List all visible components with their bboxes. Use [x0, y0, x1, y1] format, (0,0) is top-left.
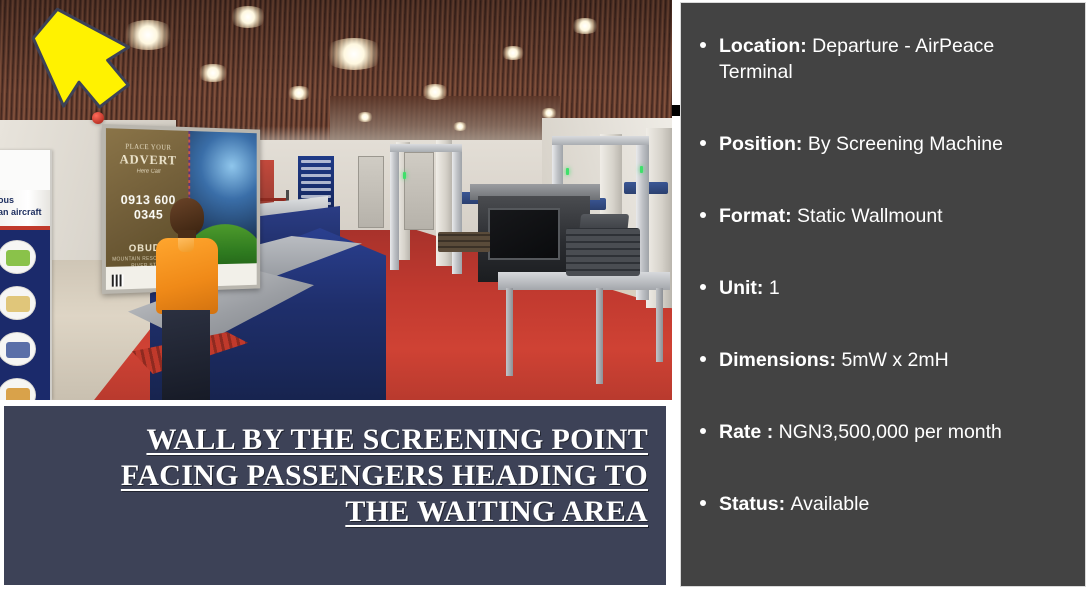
ceiling-light	[286, 86, 312, 100]
caption-line-1: WALL BY THE SCREENING POINT	[146, 423, 648, 456]
person-trousers	[162, 310, 210, 400]
spec-separator: :	[785, 205, 797, 227]
banner-top	[0, 150, 50, 190]
advert-line-3: Here Call	[106, 168, 190, 175]
ceiling-light	[420, 84, 450, 100]
table-leg	[596, 288, 603, 384]
ceiling-light	[570, 18, 600, 34]
detector-status-led	[566, 168, 569, 175]
spec-key: Rate	[719, 421, 767, 443]
person-orange-shirt	[156, 238, 218, 314]
elevator-door	[404, 152, 434, 230]
spec-key: Location	[719, 35, 800, 57]
banner-item-icon	[0, 240, 36, 274]
spec-value: 1	[769, 277, 780, 299]
spec-value: Static Wallmount	[797, 205, 943, 227]
xray-tunnel-opening	[488, 208, 560, 260]
arrow-icon	[22, 4, 130, 116]
photo-scene: ous an aircraft PLACE YOUR ADVERT	[0, 0, 672, 400]
caption-line-3: THE WAITING AREA	[345, 495, 648, 528]
spec-key: Unit:	[719, 277, 763, 299]
advertising-media-slide: ous an aircraft PLACE YOUR ADVERT	[0, 0, 1088, 589]
spec-value: By Screening Machine	[808, 133, 1003, 155]
banner-item-icon	[0, 332, 36, 366]
advert-line-2: ADVERT	[106, 151, 190, 168]
spec-item: Dimensions: 5mW x 2mH	[691, 347, 1069, 373]
spec-separator: :	[830, 349, 842, 371]
spec-key: Position	[719, 133, 796, 155]
spec-separator: :	[800, 35, 812, 57]
hall-door	[358, 156, 384, 228]
caption-line-2: FACING PASSENGERS HEADING TO	[121, 459, 648, 492]
table-leg	[656, 288, 663, 362]
spec-item: Location: Departure - AirPeace Terminal	[691, 33, 1069, 85]
qr-code-icon	[112, 274, 124, 286]
metal-detector-post	[452, 146, 462, 274]
ceiling-light	[196, 64, 230, 82]
caption-heading: WALL BY THE SCREENING POINT FACING PASSE…	[4, 406, 666, 530]
ceiling-light	[500, 46, 526, 60]
metal-detector-post	[390, 148, 399, 270]
spec-item: Unit: 1	[691, 275, 1069, 301]
spec-value: Available	[791, 493, 870, 515]
spec-separator: :	[767, 421, 779, 443]
ceiling-light	[452, 122, 468, 131]
caption-box: WALL BY THE SCREENING POINT FACING PASSE…	[2, 404, 668, 587]
specification-list: Location: Departure - AirPeace TerminalP…	[691, 33, 1069, 517]
detector-status-led	[640, 166, 643, 173]
safety-rollup-banner: ous an aircraft	[0, 150, 52, 400]
passenger-person	[150, 198, 220, 400]
banner-item-icon	[0, 286, 36, 320]
spec-key: Status:	[719, 493, 785, 515]
metal-detector-header	[390, 144, 462, 152]
spec-separator: :	[796, 133, 808, 155]
spec-item: Rate : NGN3,500,000 per month	[691, 419, 1069, 445]
location-photo[interactable]: ous an aircraft PLACE YOUR ADVERT	[0, 0, 672, 400]
ceiling-light	[322, 38, 386, 70]
tray-stack	[438, 232, 490, 252]
spec-item: Status: Available	[691, 491, 1069, 517]
ceiling-light	[356, 112, 374, 122]
ceiling-light	[228, 6, 268, 28]
metal-detector-header	[552, 136, 649, 145]
ceiling-light	[540, 108, 558, 118]
detector-status-led	[403, 172, 406, 179]
spec-item: Position: By Screening Machine	[691, 131, 1069, 157]
spec-key: Format	[719, 205, 785, 227]
specification-panel: Location: Departure - AirPeace TerminalP…	[680, 2, 1086, 587]
banner-line-2: an aircraft	[0, 206, 52, 218]
banner-item-icon	[0, 378, 36, 400]
spec-key: Dimensions	[719, 349, 830, 371]
spec-value: NGN3,500,000 per month	[779, 421, 1002, 443]
spec-value: 5mW x 2mH	[841, 349, 948, 371]
banner-body	[0, 230, 50, 400]
security-tray-stack	[566, 228, 640, 276]
table-leg	[506, 288, 513, 376]
banner-line-1: ous	[0, 194, 52, 206]
spec-item: Format: Static Wallmount	[691, 203, 1069, 229]
yellow-pointer-arrow[interactable]	[22, 4, 130, 116]
